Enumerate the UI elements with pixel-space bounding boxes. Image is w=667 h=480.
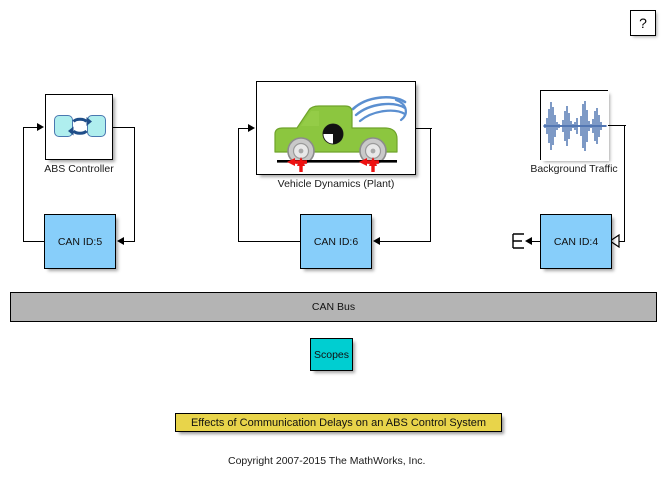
stateflow-transition-arrows-icon <box>46 95 114 161</box>
wire-can6-left-horizontal <box>238 241 300 242</box>
title-annotation[interactable]: Effects of Communication Delays on an AB… <box>175 413 502 432</box>
terminator-icon[interactable] <box>511 232 527 250</box>
can-id-5-label: CAN ID:5 <box>58 236 102 248</box>
can-id-4-label: CAN ID:4 <box>554 236 598 248</box>
wire-abs-output-horizontal <box>113 127 135 128</box>
wire-abs-to-can5-vertical <box>134 127 135 242</box>
can-id-5-block[interactable]: CAN ID:5 <box>44 214 116 269</box>
arrow-vehicle-input <box>248 124 255 132</box>
abs-controller-label: ABS Controller <box>30 163 128 175</box>
scopes-block[interactable]: Scopes <box>310 338 353 371</box>
wire-traffic-to-can4-vertical <box>624 125 625 241</box>
wire-can5-left-horizontal <box>23 241 45 242</box>
background-traffic-label: Background Traffic <box>515 163 633 175</box>
copyright-text: Copyright 2007-2015 The MathWorks, Inc. <box>228 455 425 467</box>
can-id-6-block[interactable]: CAN ID:6 <box>300 214 372 269</box>
wire-can5-input-horizontal <box>124 241 135 242</box>
car-crash-test-icon <box>257 82 417 176</box>
arrow-can6-input <box>373 237 380 245</box>
can-bus-label: CAN Bus <box>312 301 355 313</box>
vehicle-dynamics-label: Vehicle Dynamics (Plant) <box>256 178 416 190</box>
waveform-icon <box>541 91 609 161</box>
help-button[interactable]: ? <box>630 10 656 36</box>
wire-vehicle-to-can6-vertical <box>430 128 431 242</box>
vehicle-dynamics-block[interactable] <box>256 81 416 175</box>
background-traffic-block[interactable] <box>540 90 608 160</box>
can-bus-block[interactable]: CAN Bus <box>10 292 657 322</box>
wire-can5-to-abs-vertical <box>23 127 24 242</box>
wire-can6-to-vehicle-vertical <box>238 128 239 242</box>
can-id-6-label: CAN ID:6 <box>314 236 358 248</box>
abs-controller-block[interactable] <box>45 94 113 160</box>
question-mark-icon: ? <box>639 15 647 31</box>
arrow-can5-input <box>117 237 124 245</box>
wire-can6-input-horizontal <box>380 241 431 242</box>
simulink-model-canvas: ? ABS Controller CAN ID:5 <box>0 0 667 480</box>
can-id-4-block[interactable]: CAN ID:4 <box>540 214 612 269</box>
title-annotation-text: Effects of Communication Delays on an AB… <box>191 417 486 429</box>
scopes-label: Scopes <box>314 349 349 361</box>
arrow-abs-input <box>37 123 44 131</box>
wire-abs-input-horizontal <box>23 127 38 128</box>
